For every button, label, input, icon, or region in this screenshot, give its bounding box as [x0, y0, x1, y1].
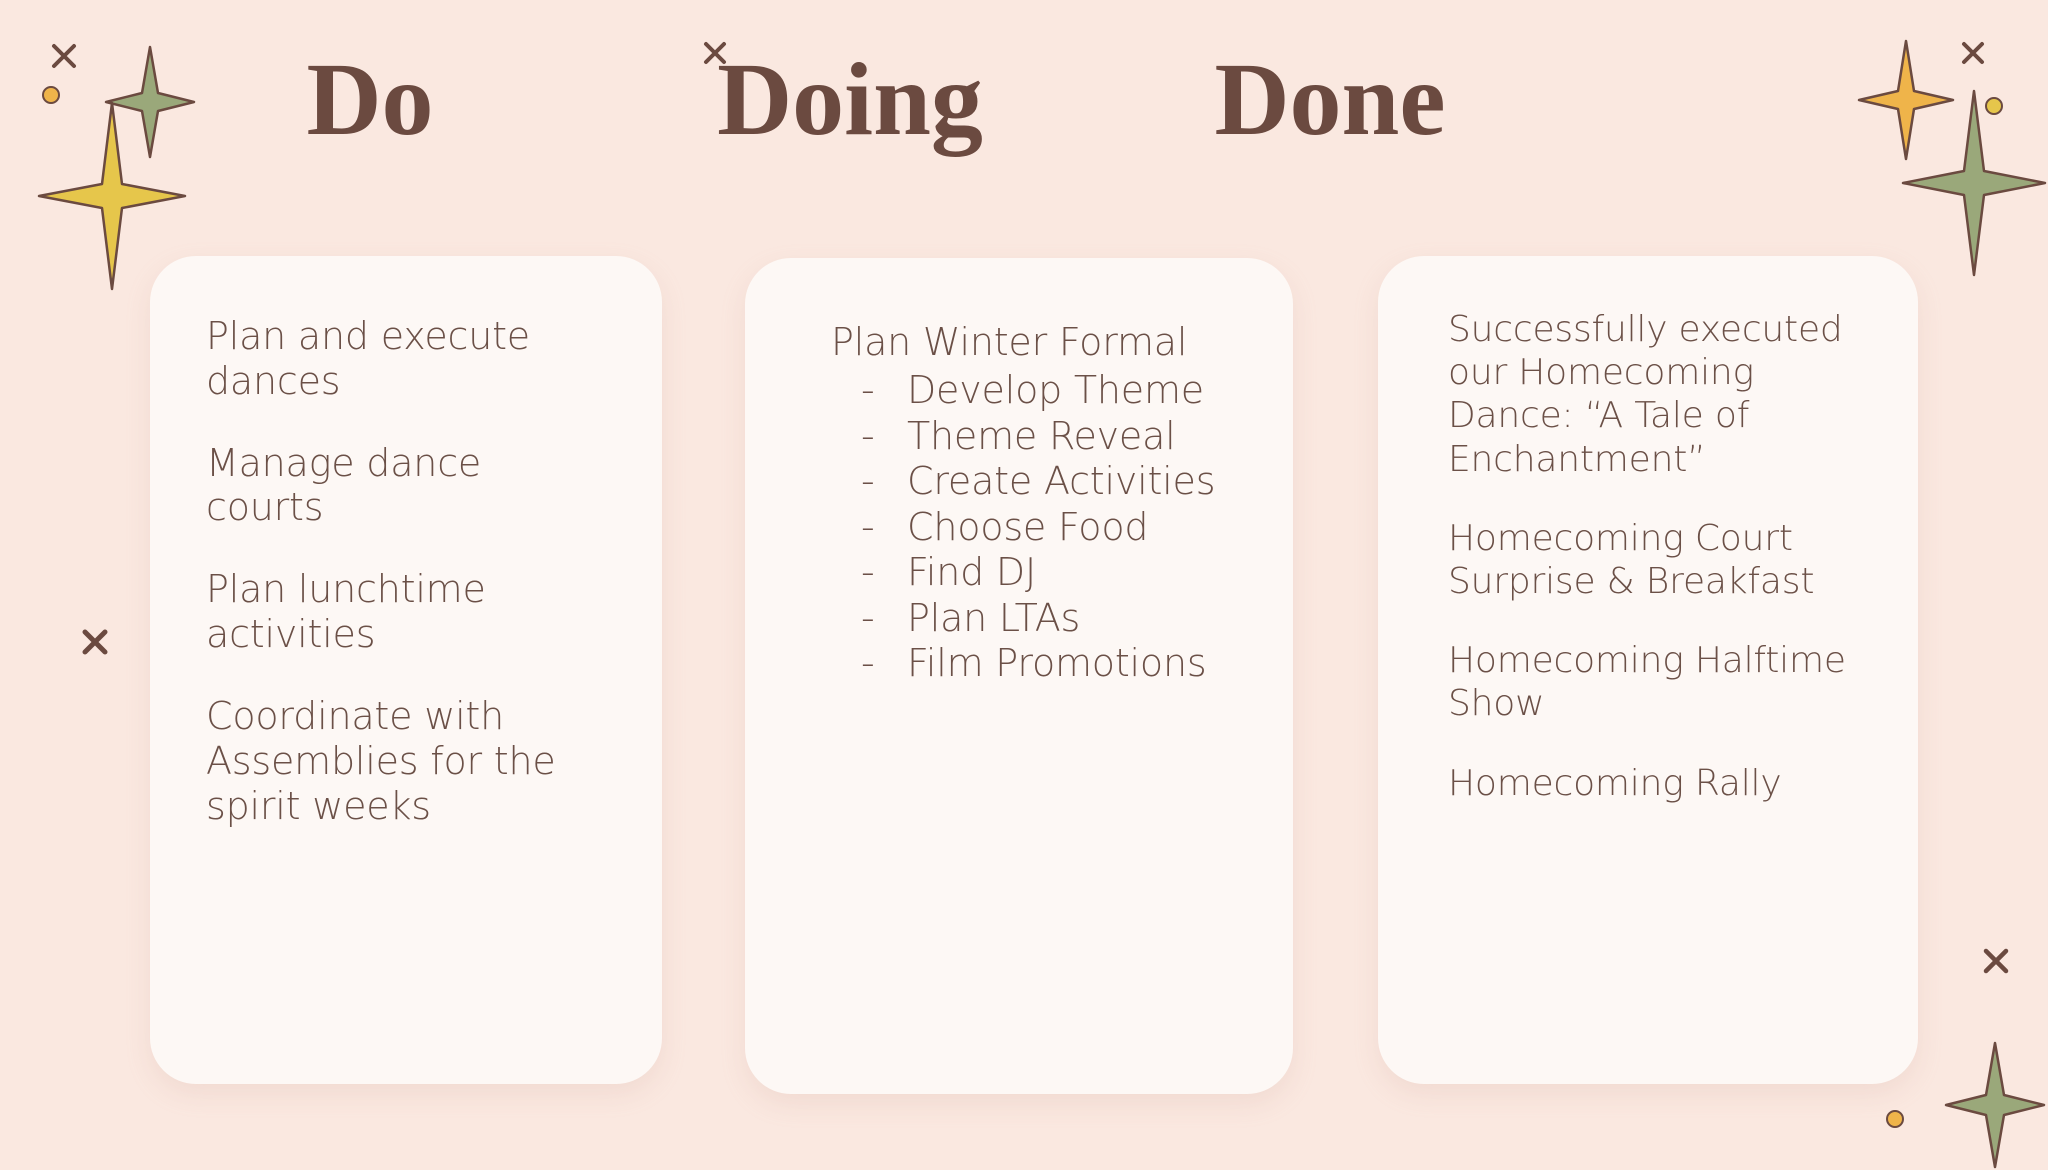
- dash-bullet: -: [831, 459, 907, 503]
- cross-mark-bottomright-icon: [1980, 945, 2012, 977]
- kanban-board: Do Doing Done Plan and execute dances Ma…: [0, 0, 2048, 1153]
- card-do-body: Plan and execute dances Manage dance cou…: [150, 256, 662, 1084]
- dash-bullet: -: [831, 505, 907, 549]
- dot-orange-bottomright-icon: [1884, 1108, 1906, 1130]
- subtask-label: Choose Food: [907, 505, 1237, 549]
- list-item[interactable]: - Choose Food: [831, 505, 1237, 549]
- dash-bullet: -: [831, 368, 907, 412]
- dash-bullet: -: [831, 414, 907, 458]
- task-item[interactable]: Plan and execute dances: [206, 314, 600, 404]
- column-heading-doing: Doing: [630, 48, 1070, 152]
- dash-bullet: -: [831, 550, 907, 594]
- list-item[interactable]: - Create Activities: [831, 459, 1237, 503]
- task-item[interactable]: Homecoming Rally: [1448, 762, 1846, 805]
- card-do[interactable]: Plan and execute dances Manage dance cou…: [150, 256, 662, 1084]
- sparkle-green-bottomright-icon: [1942, 1040, 2048, 1170]
- list-item[interactable]: - Theme Reveal: [831, 414, 1237, 458]
- column-heading-done: Done: [1110, 48, 1550, 152]
- task-item[interactable]: Successfully executed our Homecoming Dan…: [1448, 308, 1846, 481]
- task-item[interactable]: Plan lunchtime activities: [206, 567, 600, 657]
- task-group-title[interactable]: Plan Winter Formal: [831, 320, 1237, 364]
- card-doing[interactable]: Plan Winter Formal - Develop Theme - The…: [745, 258, 1293, 1094]
- list-item[interactable]: - Film Promotions: [831, 641, 1237, 685]
- subtask-label: Plan LTAs: [907, 596, 1237, 640]
- subtask-label: Find DJ: [907, 550, 1237, 594]
- subtask-label: Create Activities: [907, 459, 1237, 503]
- column-headings: Do Doing Done: [0, 0, 2048, 220]
- subtask-label: Theme Reveal: [907, 414, 1237, 458]
- card-doing-body: Plan Winter Formal - Develop Theme - The…: [745, 258, 1293, 1094]
- card-done-body: Successfully executed our Homecoming Dan…: [1378, 256, 1918, 1084]
- subtask-label: Develop Theme: [907, 368, 1237, 412]
- subtask-list: - Develop Theme - Theme Reveal - Create …: [831, 368, 1237, 685]
- task-item[interactable]: Coordinate with Assemblies for the spiri…: [206, 694, 600, 828]
- task-item[interactable]: Manage dance courts: [206, 441, 600, 531]
- subtask-label: Film Promotions: [907, 641, 1237, 685]
- dash-bullet: -: [831, 641, 907, 685]
- list-item[interactable]: - Develop Theme: [831, 368, 1237, 412]
- card-done[interactable]: Successfully executed our Homecoming Dan…: [1378, 256, 1918, 1084]
- list-item[interactable]: - Find DJ: [831, 550, 1237, 594]
- task-item[interactable]: Homecoming Halftime Show: [1448, 639, 1846, 725]
- dash-bullet: -: [831, 596, 907, 640]
- list-item[interactable]: - Plan LTAs: [831, 596, 1237, 640]
- column-heading-do: Do: [150, 48, 590, 152]
- cross-mark-left-middle-icon: [78, 625, 112, 659]
- task-item[interactable]: Homecoming Court Surprise & Breakfast: [1448, 517, 1846, 603]
